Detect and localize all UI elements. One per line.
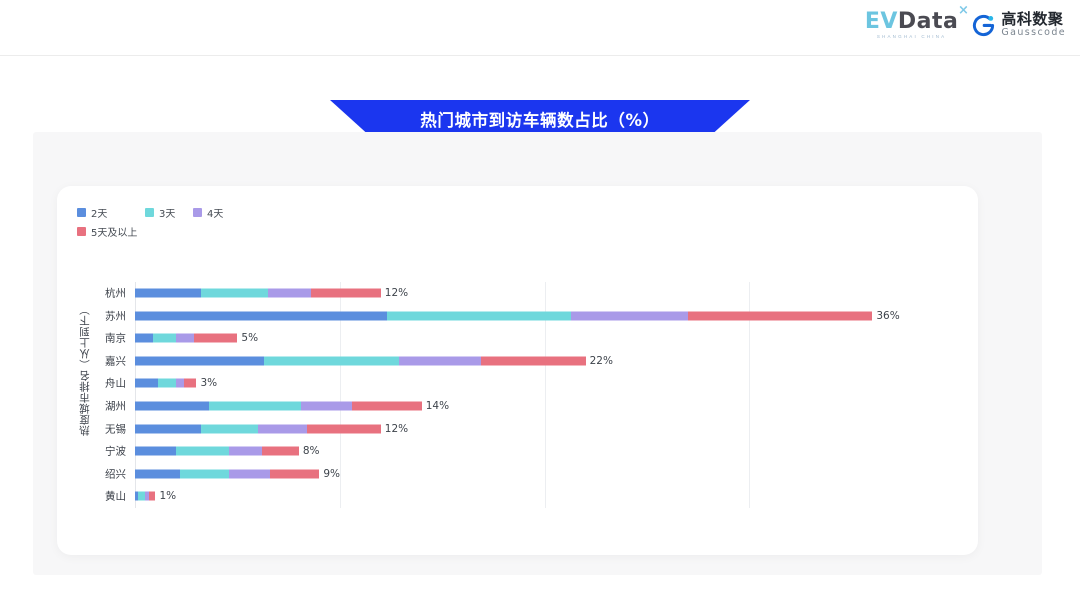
bar-segment[interactable]	[176, 379, 184, 388]
bar-value-label: 12%	[385, 423, 408, 435]
gausscode-name-en: Gausscode	[1001, 28, 1066, 38]
bar-segment[interactable]	[201, 424, 258, 433]
bar-segment[interactable]	[138, 492, 145, 501]
bar-segment[interactable]	[158, 379, 176, 388]
category-label: 宁波	[105, 444, 126, 459]
bar-value-label: 36%	[876, 310, 899, 322]
bar-value-label: 14%	[426, 400, 449, 412]
bar-segment[interactable]	[180, 469, 229, 478]
category-label: 舟山	[105, 376, 126, 391]
bar-row[interactable]: 杭州12%	[135, 282, 942, 304]
stacked-bar[interactable]	[135, 334, 237, 343]
bar-segment[interactable]	[135, 424, 201, 433]
chart-title-text: 热门城市到访车辆数占比（%）	[420, 107, 659, 131]
bar-value-label: 9%	[323, 468, 340, 480]
bar-segment[interactable]	[176, 447, 229, 456]
bar-row[interactable]: 绍兴9%	[135, 463, 942, 485]
bar-row[interactable]: 宁波8%	[135, 440, 942, 462]
category-label: 南京	[105, 331, 126, 346]
bar-segment[interactable]	[229, 469, 270, 478]
category-label: 黄山	[105, 489, 126, 504]
bar-segment[interactable]	[387, 311, 571, 320]
bar-segment[interactable]	[135, 402, 209, 411]
evdata-superscript-icon: ×	[958, 4, 969, 17]
bar-segment[interactable]	[135, 356, 264, 365]
gausscode-g-icon	[972, 14, 995, 37]
bar-segment[interactable]	[571, 311, 688, 320]
bar-segment[interactable]	[481, 356, 585, 365]
category-label: 湖州	[105, 399, 126, 414]
bar-segment[interactable]	[135, 289, 201, 298]
bar-segment[interactable]	[135, 447, 176, 456]
bar-value-label: 8%	[303, 445, 320, 457]
bar-segment[interactable]	[352, 402, 422, 411]
bar-segment[interactable]	[268, 289, 311, 298]
header-logo-bar: EVData× SHANGHAI CHINA 高科数聚 Gausscode	[0, 0, 1080, 56]
chart-plot-area: 杭州12%苏州36%南京5%嘉兴22%舟山3%湖州14%无锡12%宁波8%绍兴9…	[135, 282, 942, 508]
bar-segment[interactable]	[301, 402, 352, 411]
stacked-bar[interactable]	[135, 289, 381, 298]
bar-segment[interactable]	[270, 469, 319, 478]
category-label: 嘉兴	[105, 353, 126, 368]
stacked-bar[interactable]	[135, 492, 155, 501]
evdata-part1: EV	[865, 9, 898, 34]
logo-group: EVData× SHANGHAI CHINA 高科数聚 Gausscode	[865, 11, 1066, 40]
bar-segment[interactable]	[262, 447, 299, 456]
stacked-bar[interactable]	[135, 311, 872, 320]
bar-segment[interactable]	[135, 334, 153, 343]
bar-segment[interactable]	[688, 311, 872, 320]
bar-segment[interactable]	[201, 289, 269, 298]
bar-segment[interactable]	[399, 356, 481, 365]
bar-row[interactable]: 嘉兴22%	[135, 350, 942, 372]
stacked-bar[interactable]	[135, 469, 319, 478]
bar-row[interactable]: 舟山3%	[135, 372, 942, 394]
evdata-logo: EVData× SHANGHAI CHINA	[865, 11, 959, 40]
category-label: 无锡	[105, 421, 126, 436]
category-label: 苏州	[105, 308, 126, 323]
bar-segment[interactable]	[135, 469, 180, 478]
stacked-bar[interactable]	[135, 447, 299, 456]
gausscode-text: 高科数聚 Gausscode	[1001, 12, 1066, 38]
bar-row[interactable]: 湖州14%	[135, 395, 942, 417]
stacked-bar[interactable]	[135, 356, 586, 365]
gausscode-name-cn: 高科数聚	[1001, 12, 1066, 28]
bar-row[interactable]: 苏州36%	[135, 305, 942, 327]
bar-segment[interactable]	[311, 289, 381, 298]
bar-row[interactable]: 黄山1%	[135, 485, 942, 507]
chart-card: 2天 3天 4天 5天及以上 热度城市排名（从上到下） 杭州12%苏州36%南京…	[57, 186, 978, 555]
bar-value-label: 1%	[159, 490, 176, 502]
bar-value-label: 3%	[200, 377, 217, 389]
header-divider	[0, 55, 1080, 56]
bar-row[interactable]: 无锡12%	[135, 418, 942, 440]
gausscode-logo: 高科数聚 Gausscode	[972, 12, 1066, 38]
category-label: 杭州	[105, 286, 126, 301]
stacked-bar[interactable]	[135, 379, 196, 388]
y-axis-title: 热度城市排名（从上到下）	[77, 304, 92, 436]
bar-segment[interactable]	[184, 379, 196, 388]
bar-value-label: 22%	[590, 355, 613, 367]
bar-segment[interactable]	[264, 356, 399, 365]
bar-row[interactable]: 南京5%	[135, 327, 942, 349]
evdata-subtitle: SHANGHAI CHINA	[877, 35, 947, 40]
evdata-part2: Data	[898, 9, 958, 34]
bar-segment[interactable]	[258, 424, 307, 433]
bar-segment[interactable]	[307, 424, 381, 433]
bar-segment[interactable]	[229, 447, 262, 456]
evdata-wordmark: EVData×	[865, 11, 959, 33]
bar-segment[interactable]	[209, 402, 301, 411]
bar-segment[interactable]	[135, 379, 158, 388]
bar-segment[interactable]	[194, 334, 237, 343]
bar-value-label: 5%	[241, 332, 258, 344]
bar-segment[interactable]	[153, 334, 176, 343]
bar-segment[interactable]	[135, 311, 387, 320]
stacked-bar-chart: 热度城市排名（从上到下） 杭州12%苏州36%南京5%嘉兴22%舟山3%湖州14…	[57, 186, 978, 555]
stacked-bar[interactable]	[135, 424, 381, 433]
bar-segment[interactable]	[176, 334, 194, 343]
bar-value-label: 12%	[385, 287, 408, 299]
bar-segment[interactable]	[149, 492, 155, 501]
stacked-bar[interactable]	[135, 402, 422, 411]
category-label: 绍兴	[105, 466, 126, 481]
